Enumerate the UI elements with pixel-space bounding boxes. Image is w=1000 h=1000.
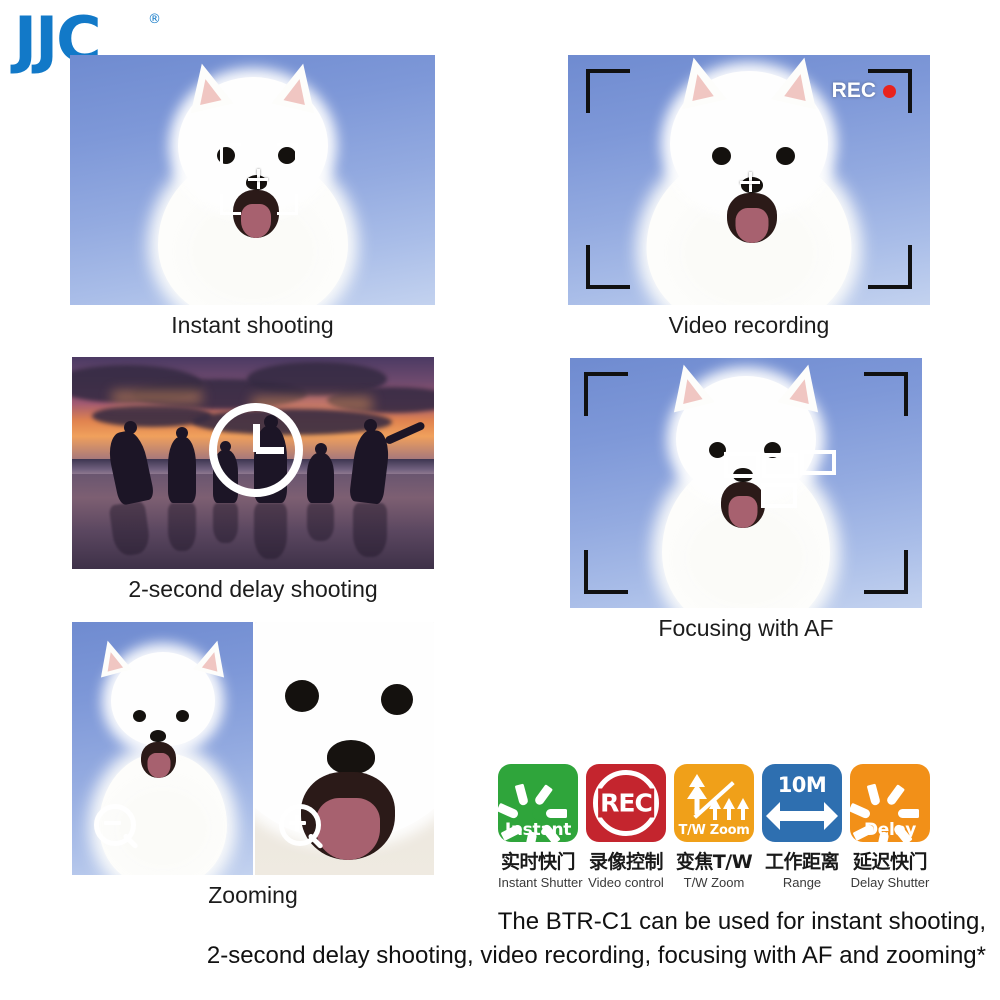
short-tree-icon [736, 798, 750, 820]
tile-word: 10M [778, 773, 827, 797]
feature-label-cn: 变焦T/W [674, 847, 754, 874]
feature-label-cn: 工作距离 [762, 847, 842, 874]
feature-label-cn: 录像控制 [586, 847, 666, 874]
zooming-image [72, 622, 434, 875]
feature-icon-row: Instant 实时快门 Instant Shutter REC 录像控制 Vi… [498, 764, 930, 890]
product-description: The BTR-C1 can be used for instant shoot… [0, 905, 986, 973]
viewfinder-corner-bottom-left [584, 550, 628, 594]
zoom-in-icon [279, 804, 327, 852]
tile-word: T/W Zoom [674, 823, 754, 838]
feature-video-control: REC 录像控制 Video control [586, 764, 666, 890]
product-infographic: JJC ® [0, 0, 1000, 1000]
feature-delay-shutter: Delay 延迟快门 Delay Shutter [850, 764, 930, 890]
delay-shutter-tile: Delay [850, 764, 930, 842]
viewfinder-corner-bottom-right [868, 245, 912, 289]
feature-label-en: Range [762, 875, 842, 890]
focus-crosshair-icon [248, 169, 268, 189]
feature-tw-zoom: T/W Zoom 变焦T/W T/W Zoom [674, 764, 754, 890]
rec-indicator: REC [832, 79, 896, 103]
feature-label-en: Video control [586, 875, 666, 890]
feature-label-cn: 延迟快门 [850, 847, 930, 874]
feature-label-en: Delay Shutter [850, 875, 930, 890]
registered-trademark-icon: ® [148, 12, 161, 27]
tw-zoom-tile: T/W Zoom [674, 764, 754, 842]
range-tile: 10M [762, 764, 842, 842]
focusing-af-image [570, 358, 922, 608]
feature-instant-shutter: Instant 实时快门 Instant Shutter [498, 764, 578, 890]
panel-caption: Video recording [568, 312, 930, 339]
panel-caption: 2-second delay shooting [72, 576, 434, 603]
description-line-2: 2-second delay shooting, video recording… [0, 939, 986, 973]
tile-word: Instant [498, 820, 578, 840]
viewfinder-corner-top-left [584, 372, 628, 416]
viewfinder-corner-bottom-right [864, 550, 908, 594]
timer-clock-icon [209, 403, 303, 497]
panel-instant-shooting: Instant shooting [70, 55, 435, 339]
zoom-out-half [72, 622, 253, 875]
af-box [724, 452, 760, 478]
delay-shooting-image [72, 357, 434, 569]
panel-zooming: Zooming [72, 622, 434, 909]
instant-shutter-tile: Instant [498, 764, 578, 842]
af-box [800, 450, 836, 475]
arrow-head-right-icon [824, 802, 838, 830]
panel-caption: Focusing with AF [570, 615, 922, 642]
tile-word: REC [598, 789, 654, 818]
zoom-out-icon [94, 804, 142, 852]
tile-word: Delay [850, 820, 930, 840]
viewfinder-corner-bottom-left [586, 245, 630, 289]
arrow-head-left-icon [766, 802, 780, 830]
panel-video-recording: REC Video recording [568, 55, 930, 339]
rec-dot-icon [883, 85, 896, 98]
viewfinder-corner-top-left [586, 69, 630, 113]
focus-crosshair-icon [740, 172, 760, 192]
feature-label-en: T/W Zoom [674, 875, 754, 890]
zoom-in-half [255, 622, 434, 875]
feature-range: 10M 工作距离 Range [762, 764, 842, 890]
panel-caption: Instant shooting [70, 312, 435, 339]
rec-label: REC [832, 79, 876, 103]
panel-focusing-af: Focusing with AF [570, 358, 922, 642]
feature-label-en: Instant Shutter [498, 875, 578, 890]
description-line-1: The BTR-C1 can be used for instant shoot… [0, 905, 986, 939]
split-divider [253, 622, 255, 875]
af-box [762, 453, 798, 478]
video-recording-image: REC [568, 55, 930, 305]
viewfinder-corner-top-right [864, 372, 908, 416]
short-tree-icon [708, 798, 722, 820]
af-box [761, 483, 797, 508]
video-control-tile: REC [586, 764, 666, 842]
short-tree-icon [722, 798, 736, 820]
arrow-shaft [778, 811, 826, 821]
feature-label-cn: 实时快门 [498, 847, 578, 874]
instant-shooting-image [70, 55, 435, 305]
panel-delay-shooting: 2-second delay shooting [72, 357, 434, 603]
tall-tree-icon [686, 774, 708, 814]
